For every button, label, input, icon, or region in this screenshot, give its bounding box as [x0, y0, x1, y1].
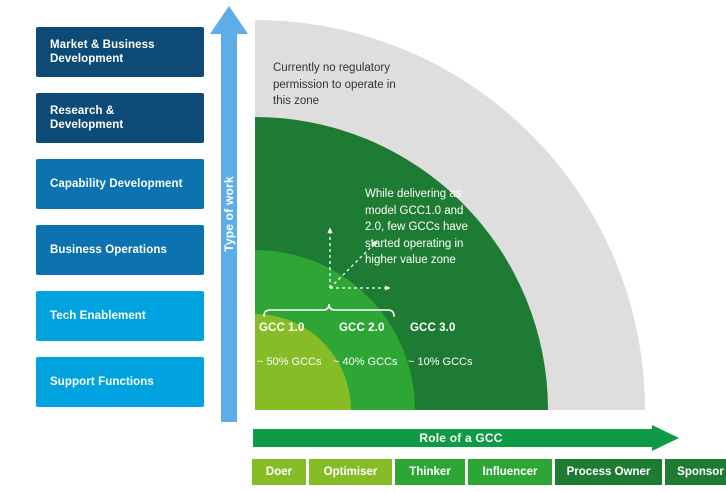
note-regulatory-permission: Currently no regulatory permission to op… — [273, 60, 413, 110]
work-category-label: Support Functions — [50, 375, 154, 389]
gcc-maturity-quadrant: GCC 1.0 GCC 2.0 GCC 3.0 ~ 50% GCCs ~ 40%… — [255, 16, 655, 416]
gcc3-label: GCC 3.0 — [410, 322, 455, 334]
work-category-research-development[interactable]: Research & Development — [36, 93, 204, 143]
role-box-optimiser[interactable]: Optimiser — [309, 459, 392, 485]
work-category-market-business-development[interactable]: Market & Business Development — [36, 27, 204, 77]
work-category-label: Capability Development — [50, 177, 183, 191]
up-arrow-icon — [208, 4, 250, 424]
gcc2-share: ~ 40% GCCs — [333, 356, 398, 368]
gcc-role-list: Doer Optimiser Thinker Influencer Proces… — [252, 459, 726, 485]
work-category-label: Tech Enablement — [50, 309, 146, 323]
role-box-doer[interactable]: Doer — [252, 459, 306, 485]
work-category-business-operations[interactable]: Business Operations — [36, 225, 204, 275]
role-box-process-owner[interactable]: Process Owner — [555, 459, 662, 485]
right-arrow-icon — [252, 424, 680, 452]
gcc3-share: ~ 10% GCCs — [408, 356, 473, 368]
role-box-sponsor[interactable]: Sponsor — [665, 459, 726, 485]
gcc2-label: GCC 2.0 — [339, 322, 384, 334]
gcc1-label: GCC 1.0 — [259, 322, 304, 334]
work-category-label: Research & Development — [50, 104, 190, 132]
work-category-tech-enablement[interactable]: Tech Enablement — [36, 291, 204, 341]
diagram-canvas: Market & Business Development Research &… — [0, 0, 726, 492]
role-box-influencer[interactable]: Influencer — [468, 459, 552, 485]
gcc1-share: ~ 50% GCCs — [257, 356, 322, 368]
type-of-work-axis-arrow: Type of work — [208, 4, 250, 424]
type-of-work-category-list: Market & Business Development Research &… — [36, 27, 204, 395]
work-category-label: Business Operations — [50, 243, 167, 257]
work-category-capability-development[interactable]: Capability Development — [36, 159, 204, 209]
role-of-gcc-axis-arrow: Role of a GCC — [252, 424, 680, 452]
work-category-label: Market & Business Development — [50, 38, 190, 66]
role-box-thinker[interactable]: Thinker — [395, 459, 465, 485]
work-category-support-functions[interactable]: Support Functions — [36, 357, 204, 407]
note-higher-value-zone: While delivering as model GCC1.0 and 2.0… — [365, 186, 477, 269]
